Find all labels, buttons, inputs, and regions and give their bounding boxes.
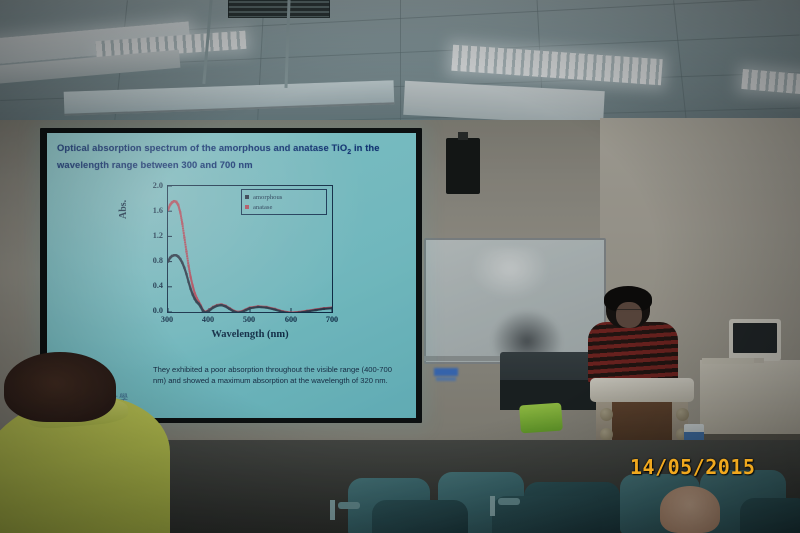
audience-member-head (660, 486, 720, 533)
podium-top (590, 378, 694, 402)
slide-caption: They exhibited a poor absorption through… (153, 365, 395, 386)
wall-speaker-mount (458, 132, 468, 140)
legend-swatch-amorphous (245, 195, 249, 199)
chart-legend: amorphous anatase (241, 189, 327, 215)
y-tick-1.2: 1.2 (123, 231, 163, 240)
monitor-screen (733, 323, 777, 353)
y-tick-0.8: 0.8 (123, 256, 163, 265)
legend-item-anatase: anatase (245, 202, 323, 212)
seat-armrest-1 (338, 502, 360, 509)
presenter-glasses (617, 309, 641, 315)
legend-label-anatase: anatase (253, 204, 272, 211)
x-tick-700: 700 (315, 315, 349, 324)
seat-row2-3 (740, 498, 800, 533)
laptop-screen-glow (434, 368, 458, 376)
seat-post-2 (490, 496, 495, 516)
chart-x-axis-label: Wavelength (nm) (167, 329, 333, 340)
ceiling-vent (228, 0, 330, 18)
green-bag (519, 403, 563, 434)
slide-title: Optical absorption spectrum of the amorp… (57, 142, 405, 172)
chart-y-ticks: 2.0 1.6 1.2 0.8 0.4 0.0 (119, 171, 163, 313)
y-tick-0.4: 0.4 (123, 281, 163, 290)
y-tick-0.0: 0.0 (123, 306, 163, 315)
y-tick-2.0: 2.0 (123, 181, 163, 190)
seat-post-1 (330, 500, 335, 520)
podium-knob-1 (600, 408, 613, 421)
x-tick-400: 400 (191, 315, 225, 324)
seat-armrest-2 (498, 498, 520, 505)
whiteboard-glare (470, 248, 550, 300)
lecture-hall-photo: Optical absorption spectrum of the amorp… (0, 0, 800, 533)
x-tick-600: 600 (274, 315, 308, 324)
presenter-body (588, 322, 678, 384)
seat-row2-1 (372, 500, 468, 533)
keyboard (702, 358, 754, 364)
presenter-face (616, 302, 642, 328)
laptop-screen-glow-secondary (436, 377, 456, 381)
podium-knob-3 (676, 408, 689, 421)
wall-speaker-icon (446, 138, 480, 194)
legend-item-amorphous: amorphous (245, 192, 323, 202)
y-tick-1.6: 1.6 (123, 206, 163, 215)
foreground-person-hair (4, 352, 116, 422)
legend-swatch-anatase (245, 205, 249, 209)
legend-label-amorphous: amorphous (253, 194, 282, 201)
slide-title-main: Optical absorption spectrum of the amorp… (57, 142, 347, 153)
absorption-spectrum-figure: Abs. 2.0 1.6 1.2 0.8 0.4 0.0 amorphous (119, 171, 347, 359)
camera-datestamp: 14/05/2015 (630, 455, 755, 479)
x-tick-500: 500 (232, 315, 266, 324)
equipment-cabinet (700, 360, 800, 434)
x-tick-300: 300 (150, 315, 184, 324)
